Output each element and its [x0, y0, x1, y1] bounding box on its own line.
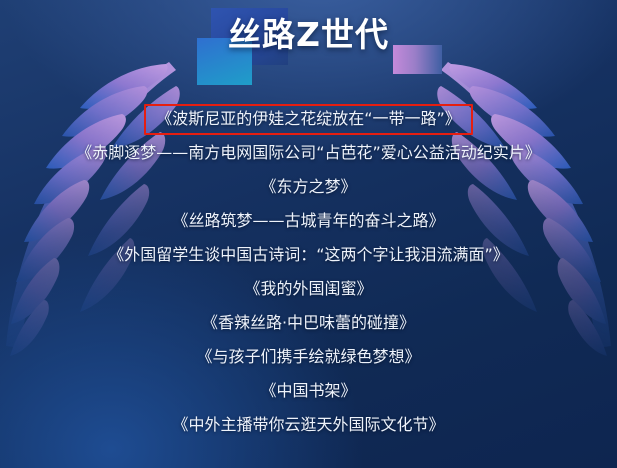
slide-canvas: 丝路Z世代 《波斯尼亚的伊娃之花绽放在“一带一路”》《赤脚逐梦——南方电网国际公…: [0, 0, 617, 468]
program-list-item[interactable]: 《与孩子们携手绘就绿色梦想》: [0, 346, 617, 368]
program-list-item[interactable]: 《香辣丝路·中巴味蕾的碰撞》: [0, 312, 617, 334]
program-list-item[interactable]: 《赤脚逐梦——南方电网国际公司“占芭花”爱心公益活动纪实片》: [0, 142, 617, 164]
highlighted-program-title[interactable]: 《波斯尼亚的伊娃之花绽放在“一带一路”》: [144, 104, 473, 135]
program-title-list: 《波斯尼亚的伊娃之花绽放在“一带一路”》《赤脚逐梦——南方电网国际公司“占芭花”…: [0, 104, 617, 448]
program-list-item[interactable]: 《东方之梦》: [0, 176, 617, 198]
program-list-item[interactable]: 《丝路筑梦——古城青年的奋斗之路》: [0, 210, 617, 232]
program-list-item[interactable]: 《波斯尼亚的伊娃之花绽放在“一带一路”》: [0, 104, 617, 135]
program-list-item[interactable]: 《我的外国闺蜜》: [0, 278, 617, 300]
page-title: 丝路Z世代: [0, 13, 617, 57]
program-list-item[interactable]: 《外国留学生谈中国古诗词：“这两个字让我泪流满面”》: [0, 244, 617, 266]
title-band: 丝路Z世代: [0, 0, 617, 86]
program-list-item[interactable]: 《中外主播带你云逛天外国际文化节》: [0, 414, 617, 436]
program-list-item[interactable]: 《中国书架》: [0, 380, 617, 402]
